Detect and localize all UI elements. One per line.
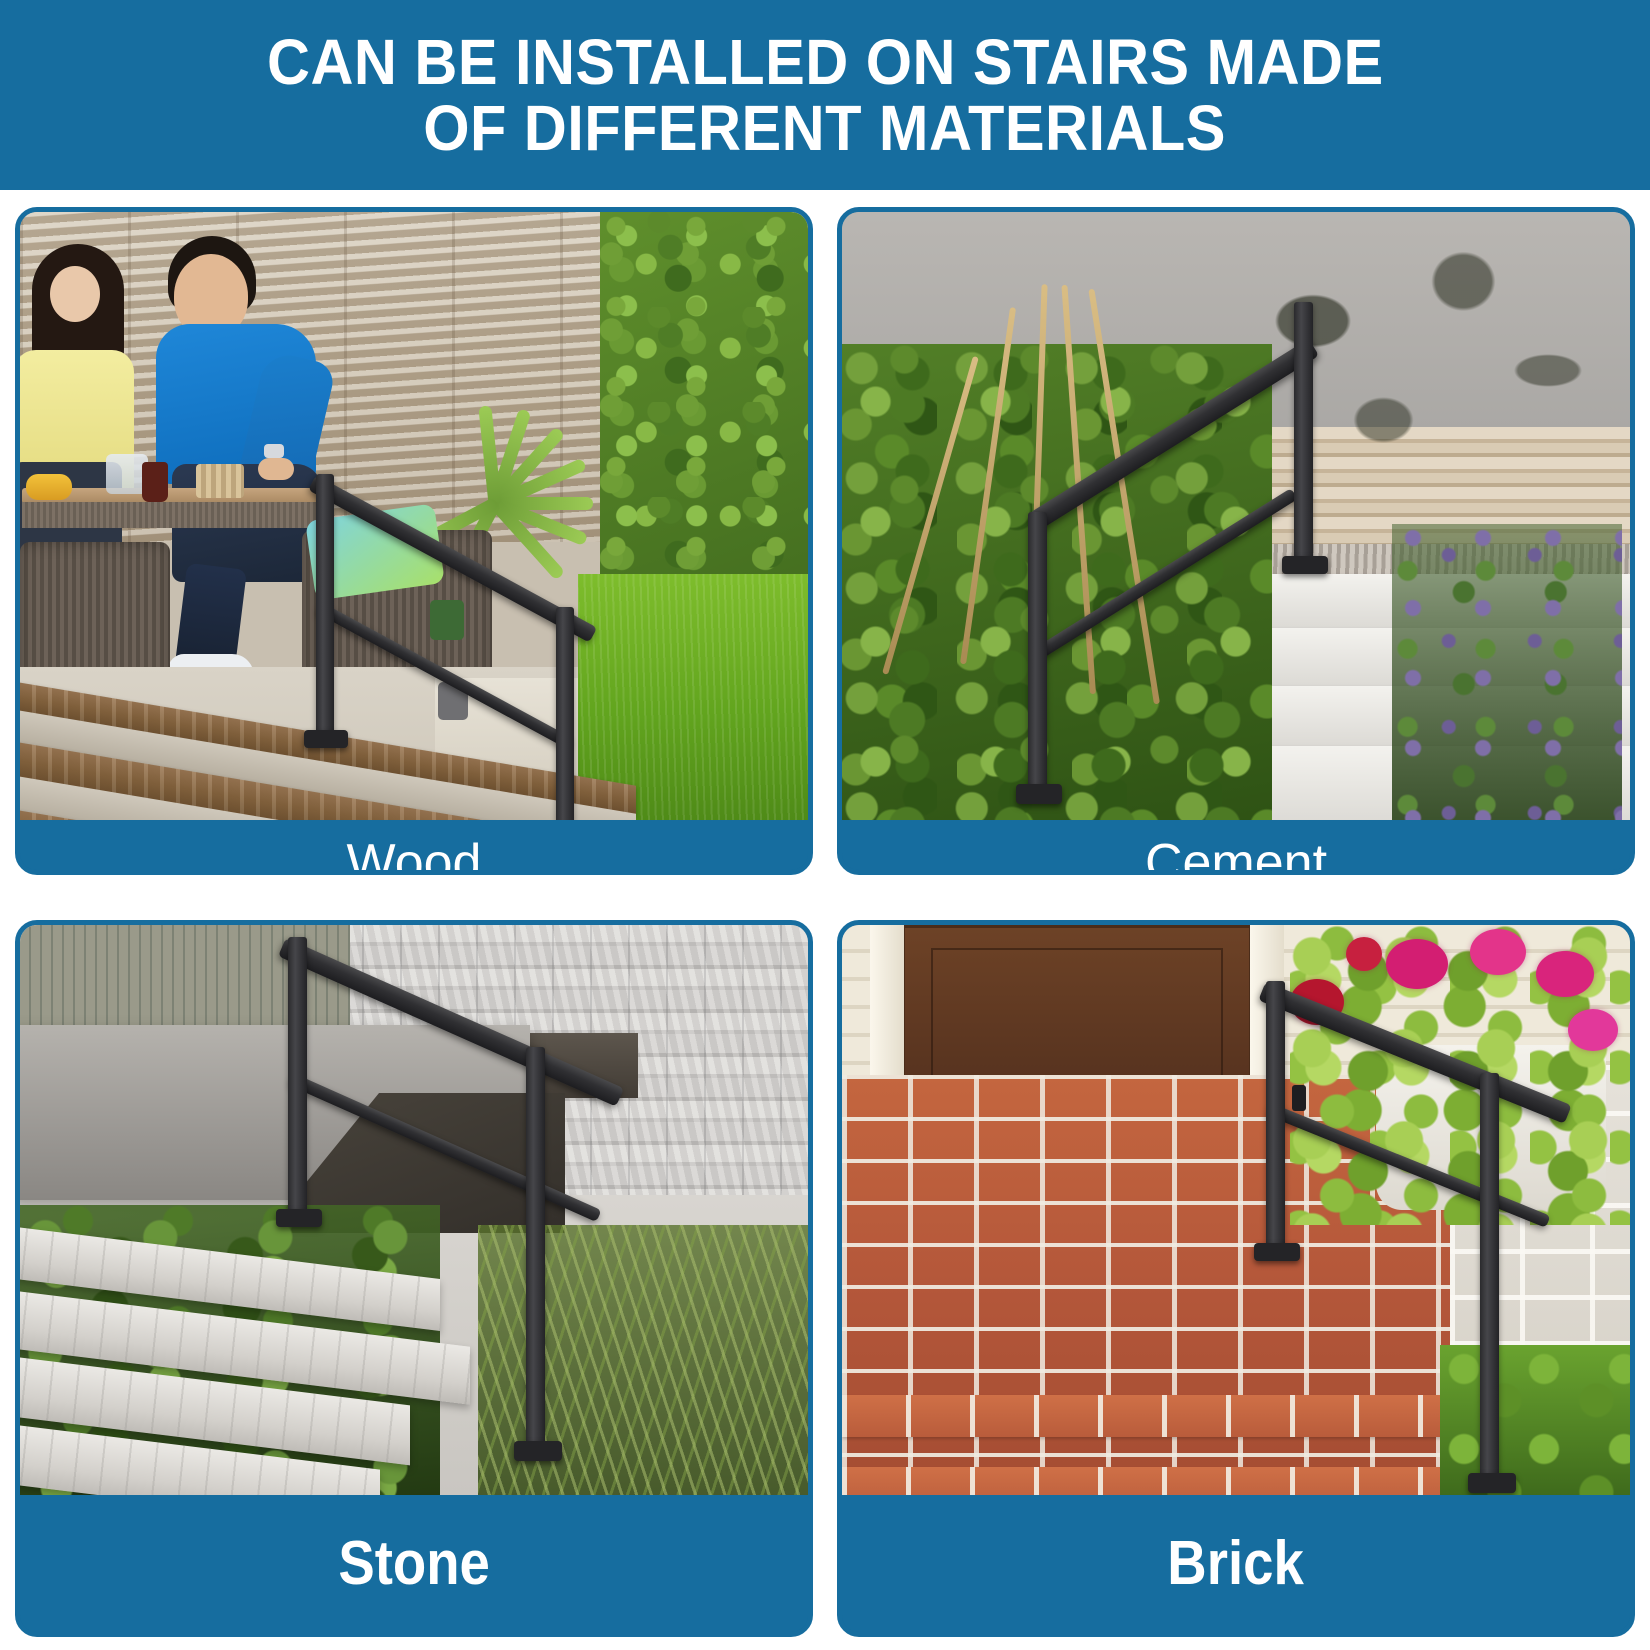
handrail-post-upper [316,474,334,736]
handrail-foot-upper [276,1209,322,1227]
caption-label-stone: Stone [338,1533,490,1595]
geranium-bloom-3 [1536,951,1594,997]
material-card-cement[interactable]: Cement [837,207,1635,875]
handrail-foot-lower [1016,784,1062,804]
handrail-post-lower [556,607,574,824]
handrail-post-upper [1266,981,1285,1249]
handrail-post-upper [288,937,307,1215]
handrail-foot-lower [1468,1473,1516,1493]
material-card-wood[interactable]: Wood [15,207,813,875]
infographic-root: CAN BE INSTALLED ON STAIRS MADE OF DIFFE… [0,0,1650,1650]
header-title-line-2: OF DIFFERENT MATERIALS [424,95,1227,161]
caption-bar-stone: Stone [20,1495,808,1632]
handrail-post-lower [1028,512,1047,792]
header-banner: CAN BE INSTALLED ON STAIRS MADE OF DIFFE… [0,0,1650,190]
caption-bar-wood: Wood [20,820,808,870]
lavender-planting [1392,524,1622,824]
caption-label-wood: Wood [347,837,482,875]
handrail-post-lower [526,1047,545,1447]
photo-stone-stairs [20,925,808,1495]
caption-bar-brick: Brick [842,1495,1630,1632]
drink-glass [142,462,168,502]
handrail-foot-upper [1282,556,1328,574]
geranium-bloom-1 [1386,939,1448,989]
geranium-bloom-6 [1346,937,1382,971]
food-bowl [26,474,72,500]
condiment-set [196,464,244,498]
material-card-brick[interactable]: Brick [837,920,1635,1637]
geranium-bloom-4 [1568,1009,1618,1051]
caption-label-brick: Brick [1168,1533,1304,1595]
photo-wood-stairs [20,212,808,824]
handrail-post-upper [1294,302,1313,564]
caption-bar-cement: Cement [842,820,1630,870]
geranium-bloom-2 [1470,929,1526,975]
handrail-foot-lower [514,1441,562,1461]
patio-table-frame [22,502,322,528]
photo-brick-stairs [842,925,1630,1495]
material-panel-grid: Wood [15,207,1635,1637]
handrail-foot-upper [304,730,348,748]
shrub-foreground [1440,1345,1630,1495]
watering-can [430,600,464,640]
caption-label-cement: Cement [1145,837,1327,875]
material-card-stone[interactable]: Stone [15,920,813,1637]
handrail-post-lower [1480,1073,1499,1479]
photo-cement-stairs [842,212,1630,824]
handrail-foot-upper [1254,1243,1300,1261]
header-title-line-1: CAN BE INSTALLED ON STAIRS MADE [267,29,1384,95]
handrail-bracket [1292,1085,1306,1111]
